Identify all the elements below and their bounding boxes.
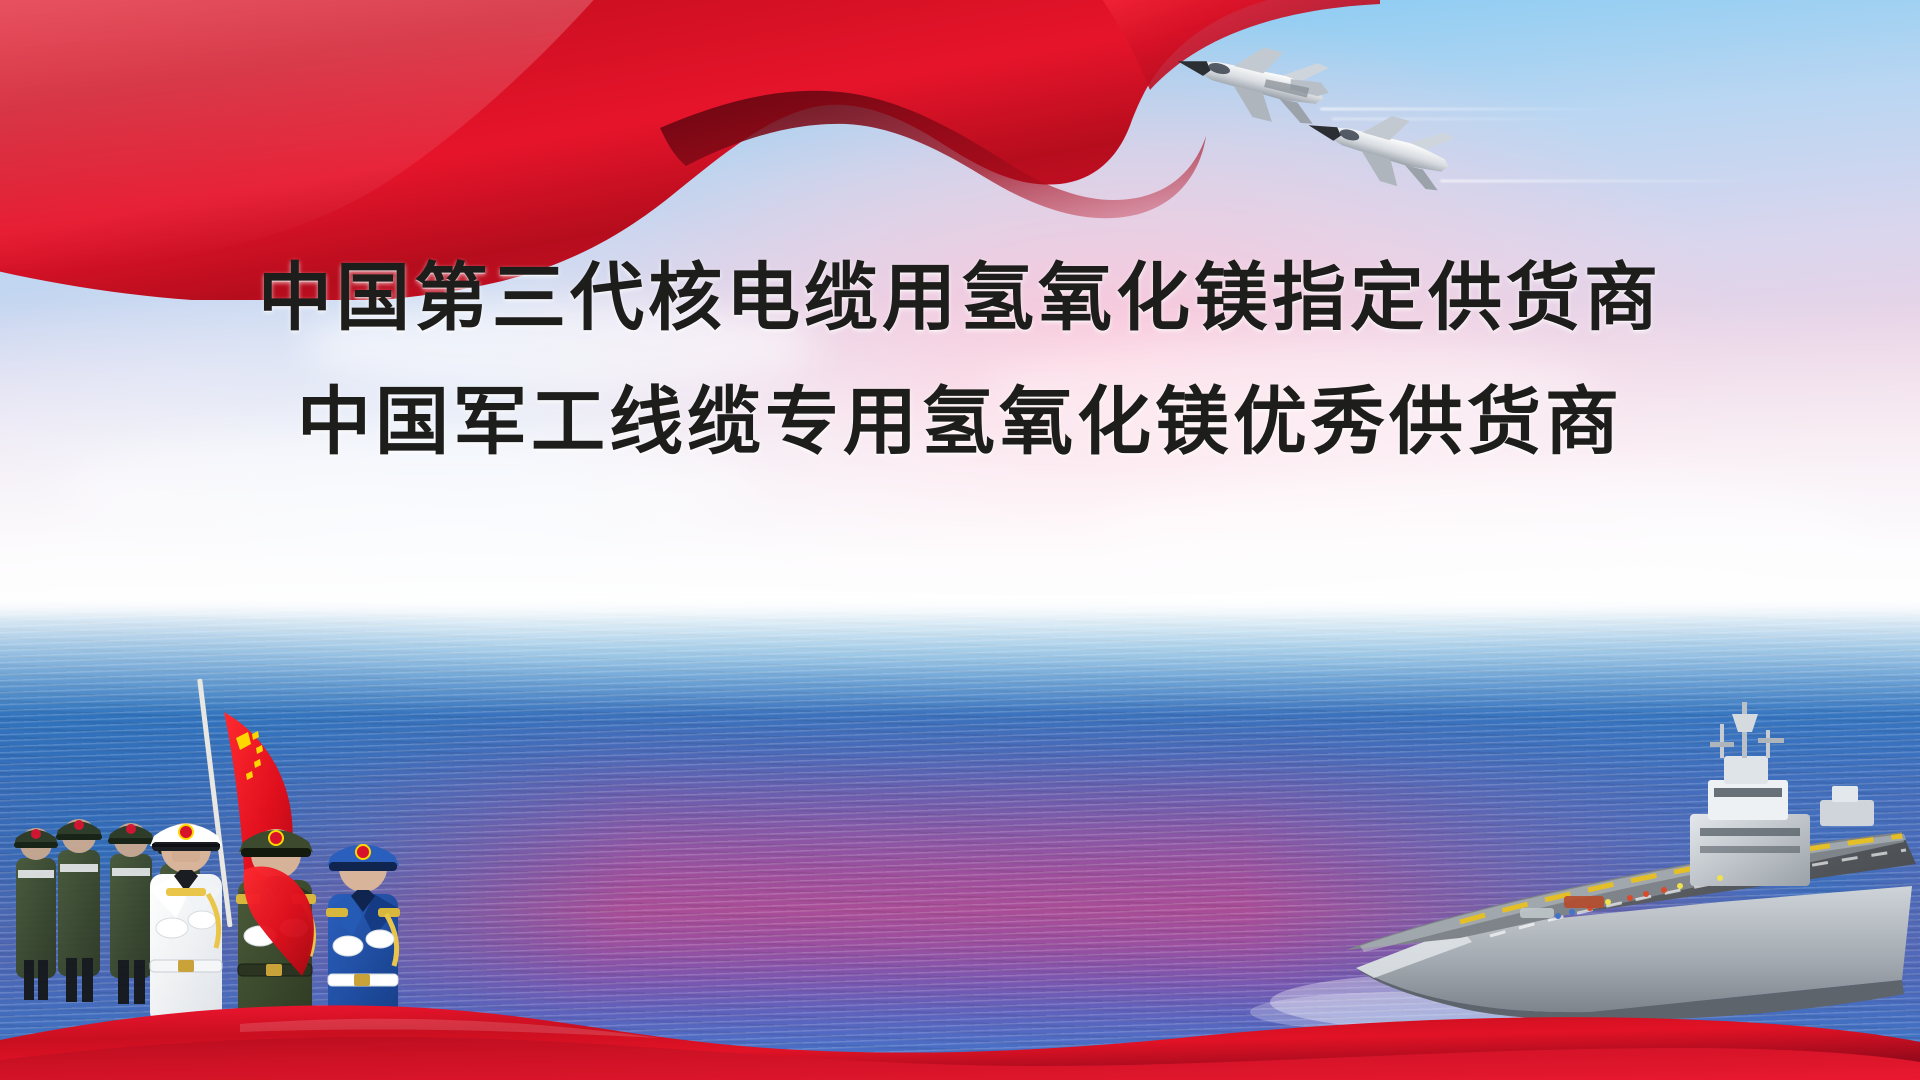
title-line-2: 中国军工线缆专用氢氧化镁优秀供货商 [0, 374, 1920, 470]
title-line-1: 中国第三代核电缆用氢氧化镁指定供货商 [0, 250, 1920, 346]
red-ribbon-bottom: 红绸 [0, 920, 1920, 1080]
banner-titles: 中国第三代核电缆用氢氧化镁指定供货商 中国军工线缆专用氢氧化镁优秀供货商 [0, 250, 1920, 470]
banner-stage: 红旗飘扬 [0, 0, 1920, 1080]
jet-contrail [1440, 180, 1770, 182]
fighter-jet-icon: 歼击机 [1300, 108, 1460, 196]
